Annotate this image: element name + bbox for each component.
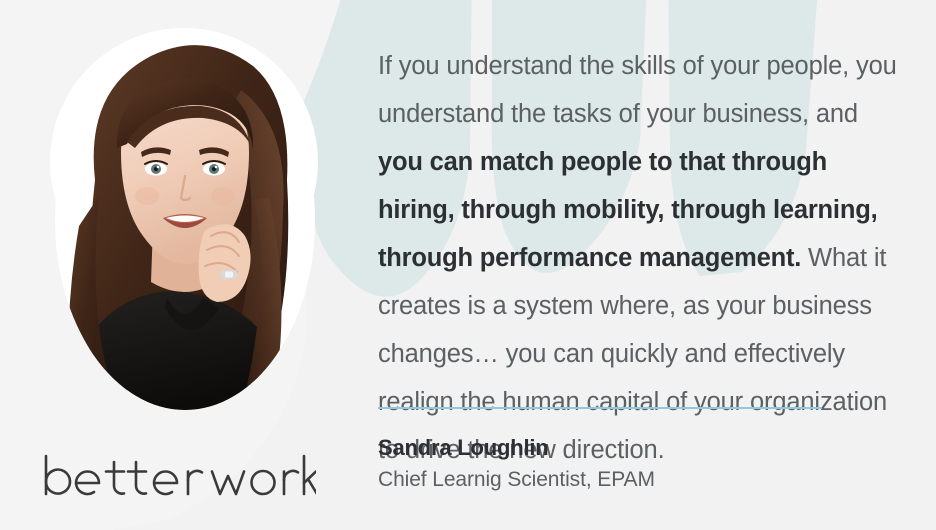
portrait-block — [0, 0, 360, 530]
quote-block: If you understand the skills of your peo… — [378, 42, 898, 474]
attribution-divider — [378, 407, 822, 409]
quote-segment-0: If you understand the skills of your peo… — [378, 52, 897, 128]
attribution-role: Chief Learnig Scientist, EPAM — [378, 464, 878, 496]
quote-segment-2: What it creates is a system where, as yo… — [378, 244, 887, 464]
quote-text: If you understand the skills of your peo… — [378, 42, 898, 474]
attribution: Sandra Loughlin Chief Learnig Scientist,… — [378, 432, 878, 496]
attribution-name: Sandra Loughlin — [378, 432, 878, 464]
quote-card: If you understand the skills of your peo… — [0, 0, 936, 530]
avatar — [55, 30, 315, 410]
betterworks-logo — [36, 450, 316, 502]
